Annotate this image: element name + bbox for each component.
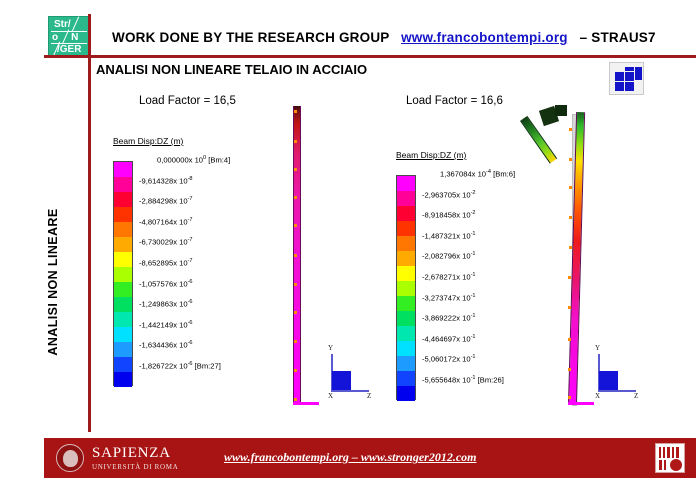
legend-colorbar-1: [113, 161, 133, 386]
legend-color-segment: [397, 191, 415, 206]
legend-color-segment: [114, 312, 132, 327]
header-link[interactable]: www.francobontempi.org: [401, 30, 568, 45]
legend-label: 0,000000x 100 [Bm:4]: [157, 155, 230, 165]
legend-label: -3,273747x 10-1: [422, 293, 476, 303]
legend-body-1: 0,000000x 100 [Bm:4]-9,614328x 10-8-2,88…: [113, 148, 313, 388]
load-factor-label-2: Load Factor = 16,6: [406, 95, 503, 107]
footer-link[interactable]: www.francobontempi.org – www.stronger201…: [224, 450, 476, 465]
fbo-logo: [655, 443, 685, 473]
legend-color-segment: [114, 237, 132, 252]
slide: Str/ o N /GER WORK DONE BY THE RESEARCH …: [0, 0, 700, 495]
footer: SAPIENZA UNIVERSITÀ DI ROMA www.francobo…: [44, 438, 696, 478]
legend-label: -8,652895x 10-7: [139, 258, 193, 268]
beam-base-1: [293, 402, 319, 405]
legend-colorbar-2: [396, 175, 416, 400]
legend-label: -5,060172x 10-1: [422, 354, 476, 364]
stronger-logo: Str/ o N /GER: [48, 16, 90, 56]
legend-color-segment: [397, 266, 415, 281]
logo-line-2a: o: [52, 33, 58, 43]
legend-color-segment: [114, 177, 132, 192]
legend-color-segment: [397, 296, 415, 311]
legend-color-segment: [114, 342, 132, 357]
legend-color-segment: [397, 341, 415, 356]
legend-label: -1,634436x 10-6: [139, 340, 193, 350]
legend-color-segment: [114, 267, 132, 282]
legend-color-segment: [397, 386, 415, 401]
legend-color-segment: [397, 206, 415, 221]
axis-label-x-2: X: [595, 392, 600, 400]
logo-line-2b: N: [71, 33, 78, 43]
legend-label: -2,678271x 10-1: [422, 272, 476, 282]
legend-color-segment: [114, 222, 132, 237]
legend-label: -1,442149x 10-6: [139, 320, 193, 330]
legend-color-segment: [397, 311, 415, 326]
legend-label: -5,655648x 10-1 [Bm:26]: [422, 375, 504, 385]
legend-color-segment: [114, 252, 132, 267]
model-view-2[interactable]: Y X Z: [528, 106, 618, 406]
header-title-prefix: WORK DONE BY THE RESEARCH GROUP: [112, 30, 389, 45]
axis-label-z-1: Z: [367, 392, 371, 400]
legend-color-segment: [397, 356, 415, 371]
legend-color-segment: [397, 221, 415, 236]
legend-color-segment: [114, 372, 132, 387]
legend-label: 1,367084x 10-4 [Bm:6]: [440, 169, 515, 179]
legend-color-segment: [114, 327, 132, 342]
legend-color-segment: [114, 297, 132, 312]
university-name: SAPIENZA: [92, 446, 171, 461]
axis-label-z-2: Z: [634, 392, 638, 400]
page-title: ANALISI NON LINEARE TELAIO IN ACCIAIO: [96, 62, 367, 77]
legend-color-segment: [397, 371, 415, 386]
legend-label: -1,057576x 10-6: [139, 279, 193, 289]
legend-label: -1,826722x 10-6 [Bm:27]: [139, 361, 221, 371]
axis-label-y-2: Y: [595, 344, 600, 352]
load-factor-label-1: Load Factor = 16,5: [139, 95, 236, 107]
university-subtitle: UNIVERSITÀ DI ROMA: [92, 463, 179, 471]
legend-label: -6,730029x 10-7: [139, 237, 193, 247]
legend-color-segment: [114, 282, 132, 297]
axis-label-y-1: Y: [328, 344, 333, 352]
legend-label: -4,807164x 10-7: [139, 217, 193, 227]
axis-label-x-1: X: [328, 392, 333, 400]
legend-label: -9,614328x 10-8: [139, 176, 193, 186]
axis-triad-1: Y X Z: [323, 344, 371, 402]
header-title: WORK DONE BY THE RESEARCH GROUP www.fran…: [112, 30, 656, 45]
axis-triad-2: Y X Z: [590, 344, 638, 402]
legend-color-segment: [397, 281, 415, 296]
logo-line-1: Str/: [49, 18, 89, 31]
legend-color-segment: [397, 236, 415, 251]
legend-label: -3,869222x 10-1: [422, 313, 476, 323]
sidebar-divider: [88, 14, 91, 432]
legend-label: -1,249863x 10-6: [139, 299, 193, 309]
beam-base-2: [568, 402, 594, 405]
legend-label: -2,884298x 10-7: [139, 196, 193, 206]
legend-label: -2,082796x 10-1: [422, 251, 476, 261]
buckled-tip-shade-2: [555, 105, 567, 116]
legend-title-1: Beam Disp:DZ (m): [113, 136, 313, 146]
legend-color-segment: [397, 176, 415, 191]
legend-color-segment: [397, 326, 415, 341]
header-divider: [44, 55, 696, 58]
sidebar-vertical-label: ANALISI NON LINEARE: [46, 182, 60, 382]
legend-label: -1,487321x 10-1: [422, 231, 476, 241]
legend-color-segment: [114, 192, 132, 207]
legend-panel-1: Beam Disp:DZ (m) 0,000000x 100 [Bm:4]-9,…: [113, 136, 313, 388]
legend-label: -4,464697x 10-1: [422, 334, 476, 344]
grid-windows-icon[interactable]: [609, 62, 644, 95]
legend-color-segment: [397, 251, 415, 266]
legend-color-segment: [114, 357, 132, 372]
legend-label: -8,918458x 10-2: [422, 210, 476, 220]
deformed-column-2: [568, 112, 585, 404]
model-view-1[interactable]: Y X Z: [285, 106, 345, 406]
legend-color-segment: [114, 207, 132, 222]
legend-label: -2,963705x 10-2: [422, 190, 476, 200]
sapienza-seal-icon: [56, 444, 84, 472]
legend-color-segment: [114, 162, 132, 177]
header-title-suffix: – STRAUS7: [580, 30, 656, 45]
